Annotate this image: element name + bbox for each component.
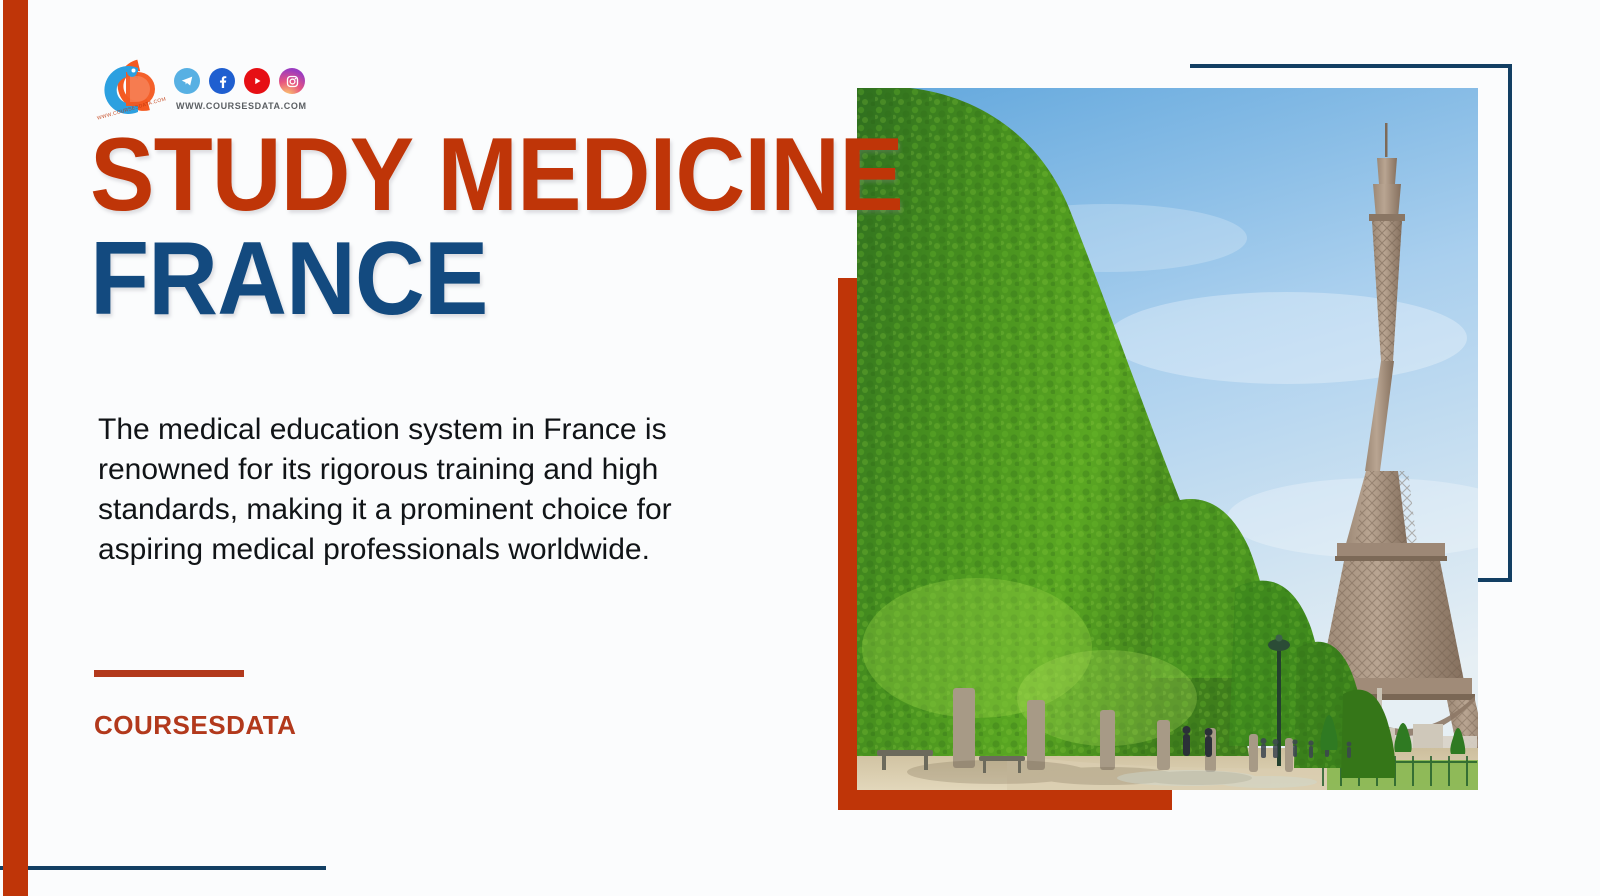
youtube-icon[interactable] xyxy=(244,68,270,94)
bottom-left-frame xyxy=(0,866,326,896)
facebook-icon[interactable] xyxy=(209,68,235,94)
coursesdata-logo[interactable]: WWW.COURSESDATA.COM xyxy=(92,52,170,124)
instagram-icon[interactable] xyxy=(279,68,305,94)
instagram-glyph xyxy=(285,74,300,89)
website-url[interactable]: WWW.COURSESDATA.COM xyxy=(176,101,307,111)
social-links xyxy=(174,68,307,94)
left-accent-bar xyxy=(3,0,28,896)
brand-divider-rule xyxy=(94,670,244,677)
telegram-glyph xyxy=(180,74,194,88)
facebook-glyph xyxy=(215,74,229,88)
social-and-url: WWW.COURSESDATA.COM xyxy=(174,52,307,111)
headline-line-2: FRANCE xyxy=(90,230,903,330)
footer-brand-name: COURSESDATA xyxy=(94,710,296,741)
telegram-icon[interactable] xyxy=(174,68,200,94)
body-paragraph: The medical education system in France i… xyxy=(98,410,758,570)
brand-bar: WWW.COURSESDATA.COM xyxy=(92,52,307,124)
headline-line-1: STUDY MEDICINE xyxy=(90,126,903,226)
youtube-glyph xyxy=(250,74,264,88)
page-title: STUDY MEDICINE FRANCE xyxy=(90,126,964,330)
